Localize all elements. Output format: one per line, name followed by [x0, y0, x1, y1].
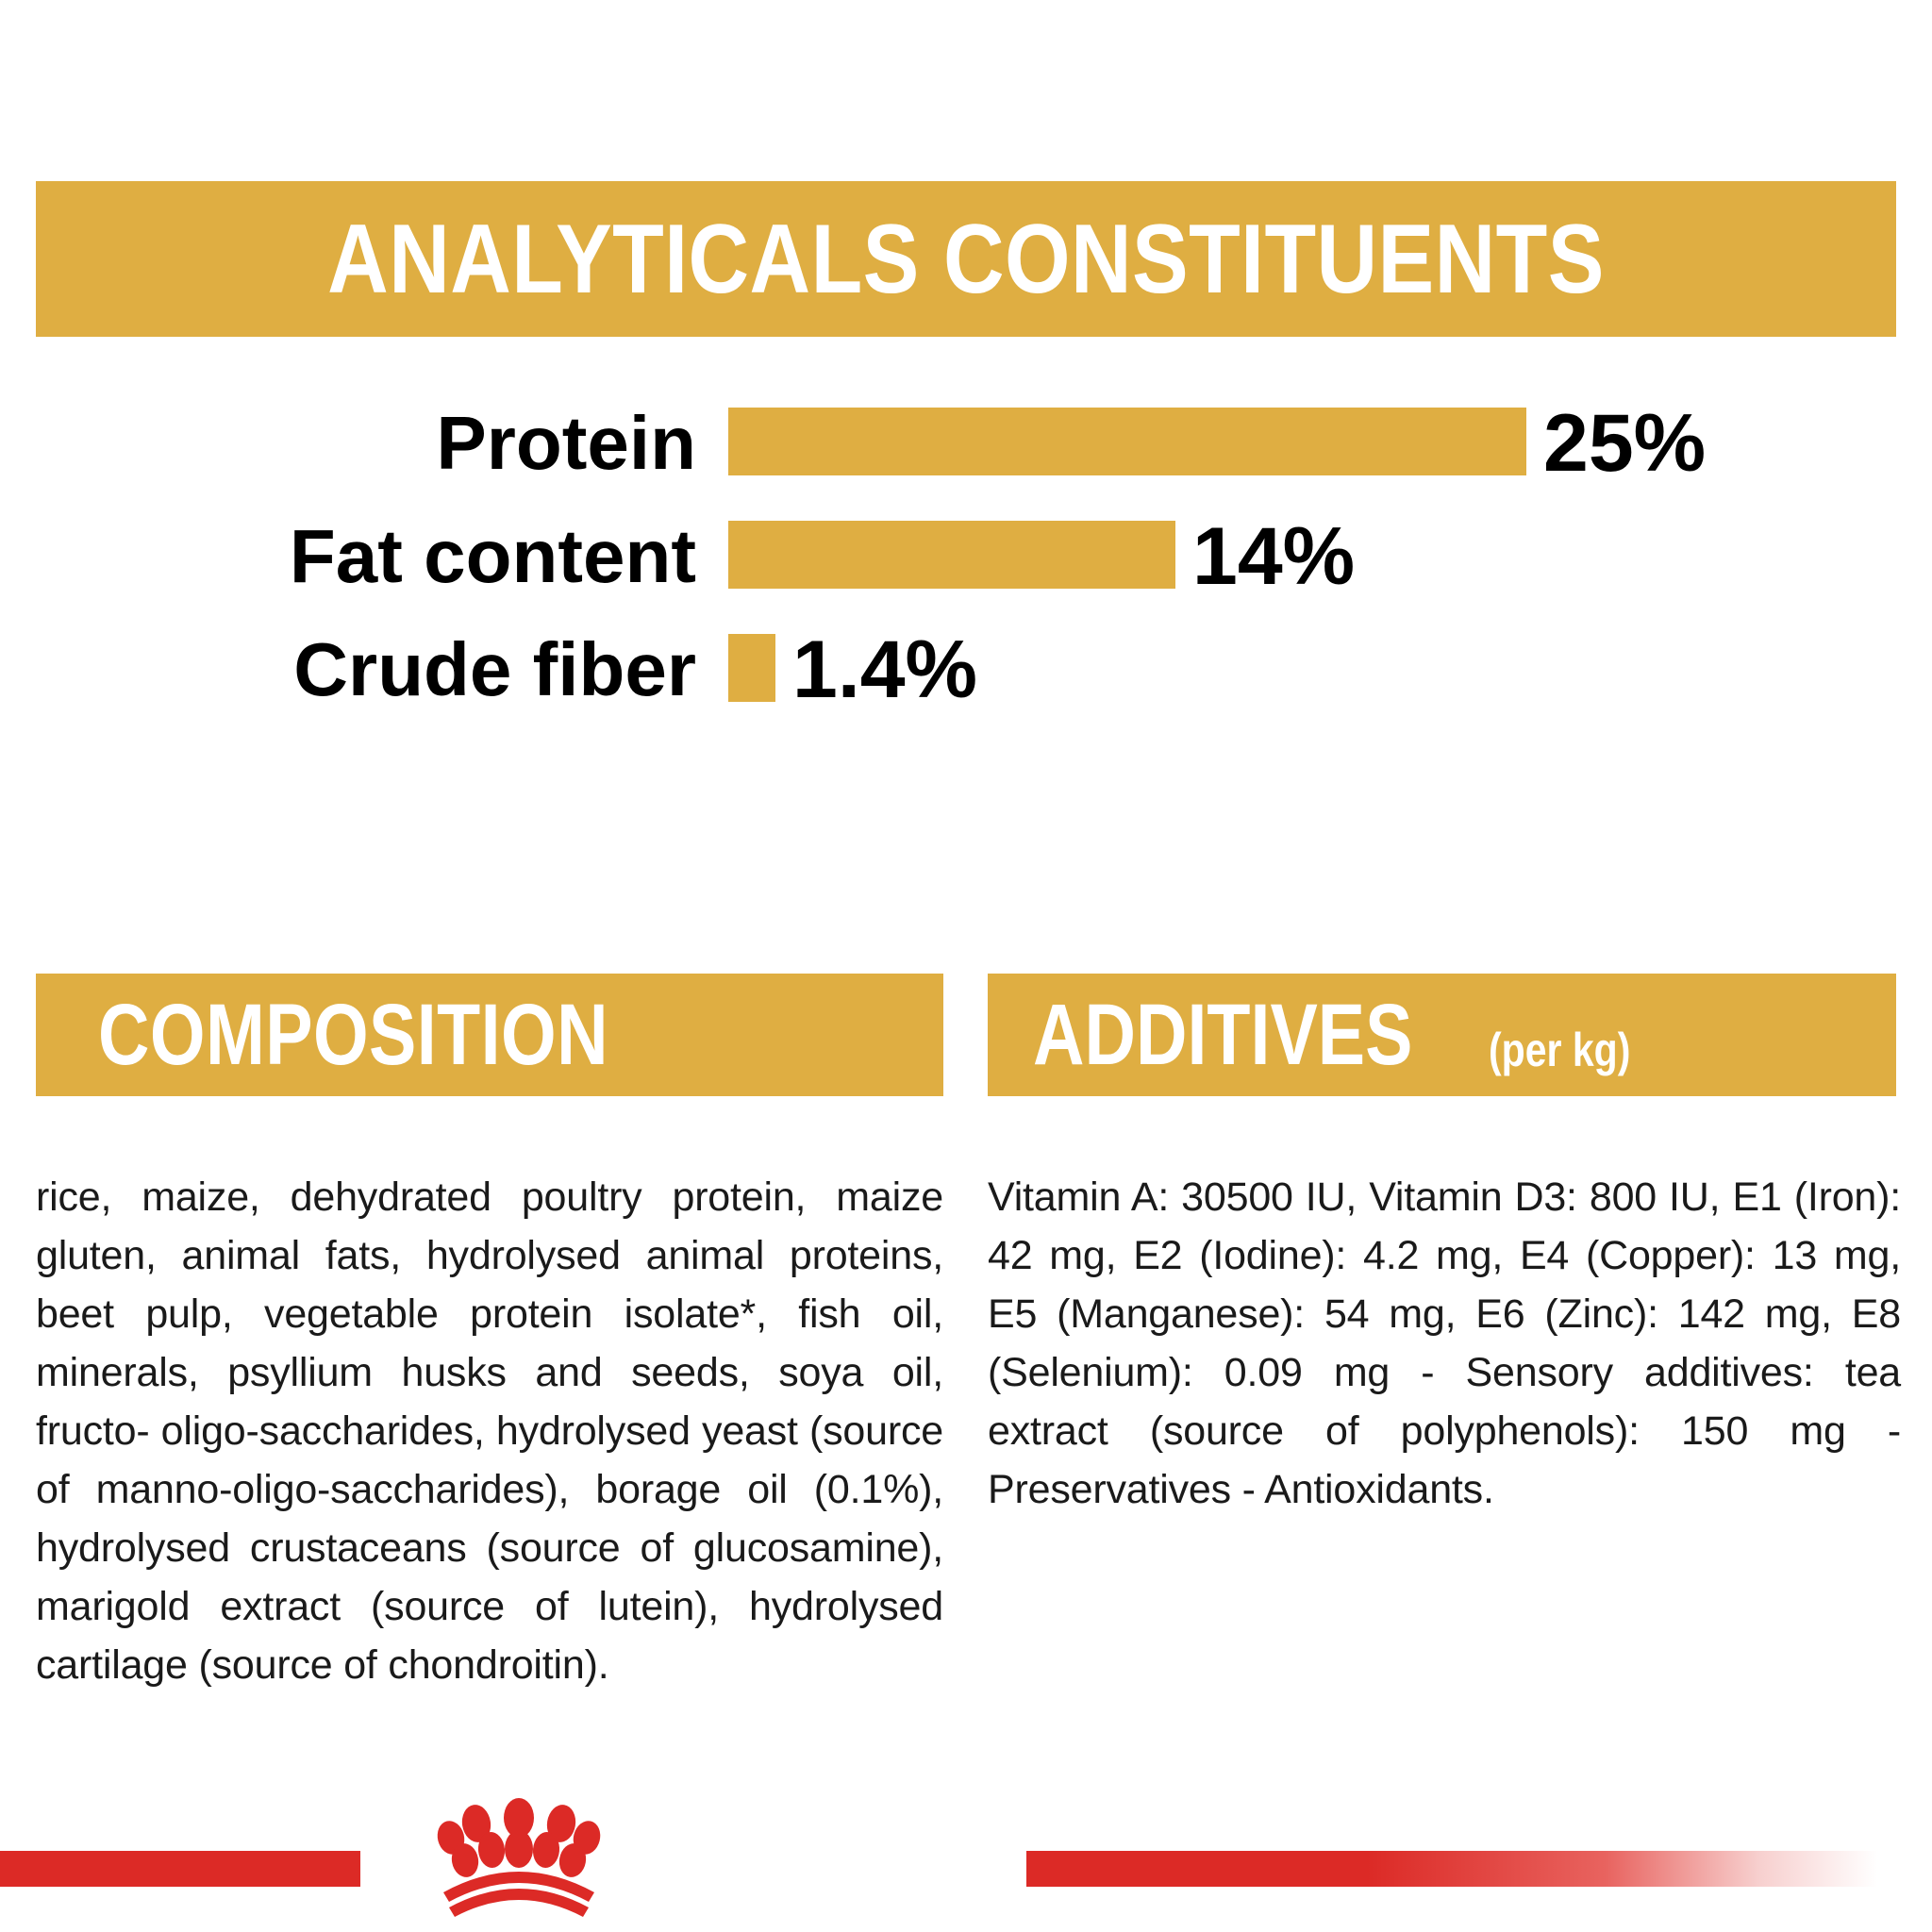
additives-banner-title: ADDITIVES [1033, 991, 1412, 1078]
composition-banner: COMPOSITION [36, 974, 943, 1096]
footer [0, 1794, 1932, 1932]
chart-value-crude-fiber: 1.4% [792, 613, 977, 726]
additives-banner-subtitle: (per kg) [1489, 1026, 1630, 1074]
royal-canin-crown-logo [396, 1794, 641, 1932]
analyticals-banner-title: ANALYTICALS CONSTITUENTS [327, 210, 1605, 308]
chart-bar-crude-fiber [728, 634, 775, 702]
chart-value-fat-content: 14% [1192, 500, 1355, 613]
chart-label-protein: Protein [0, 387, 696, 500]
additives-body-text: Vitamin A: 30500 IU, Vitamin D3: 800 IU,… [988, 1168, 1901, 1519]
chart-row-protein: Protein 25% [0, 387, 1932, 500]
chart-bar-fat-content [728, 521, 1175, 589]
chart-label-fat-content: Fat content [0, 500, 696, 613]
composition-body-text: rice, maize, dehydrated poultry protein,… [36, 1168, 943, 1694]
chart-row-fat-content: Fat content 14% [0, 500, 1932, 613]
chart-label-crude-fiber: Crude fiber [0, 613, 696, 726]
additives-banner: ADDITIVES (per kg) [988, 974, 1896, 1096]
composition-banner-title: COMPOSITION [98, 991, 608, 1078]
chart-value-protein: 25% [1543, 387, 1706, 500]
footer-rule-left [0, 1851, 360, 1887]
analyticals-constituents-banner: ANALYTICALS CONSTITUENTS [36, 181, 1896, 337]
chart-bar-protein [728, 408, 1526, 475]
analyticals-bar-chart: Protein 25% Fat content 14% Crude fiber … [0, 387, 1932, 726]
footer-rule-right [1026, 1851, 1877, 1887]
chart-row-crude-fiber: Crude fiber 1.4% [0, 613, 1932, 726]
